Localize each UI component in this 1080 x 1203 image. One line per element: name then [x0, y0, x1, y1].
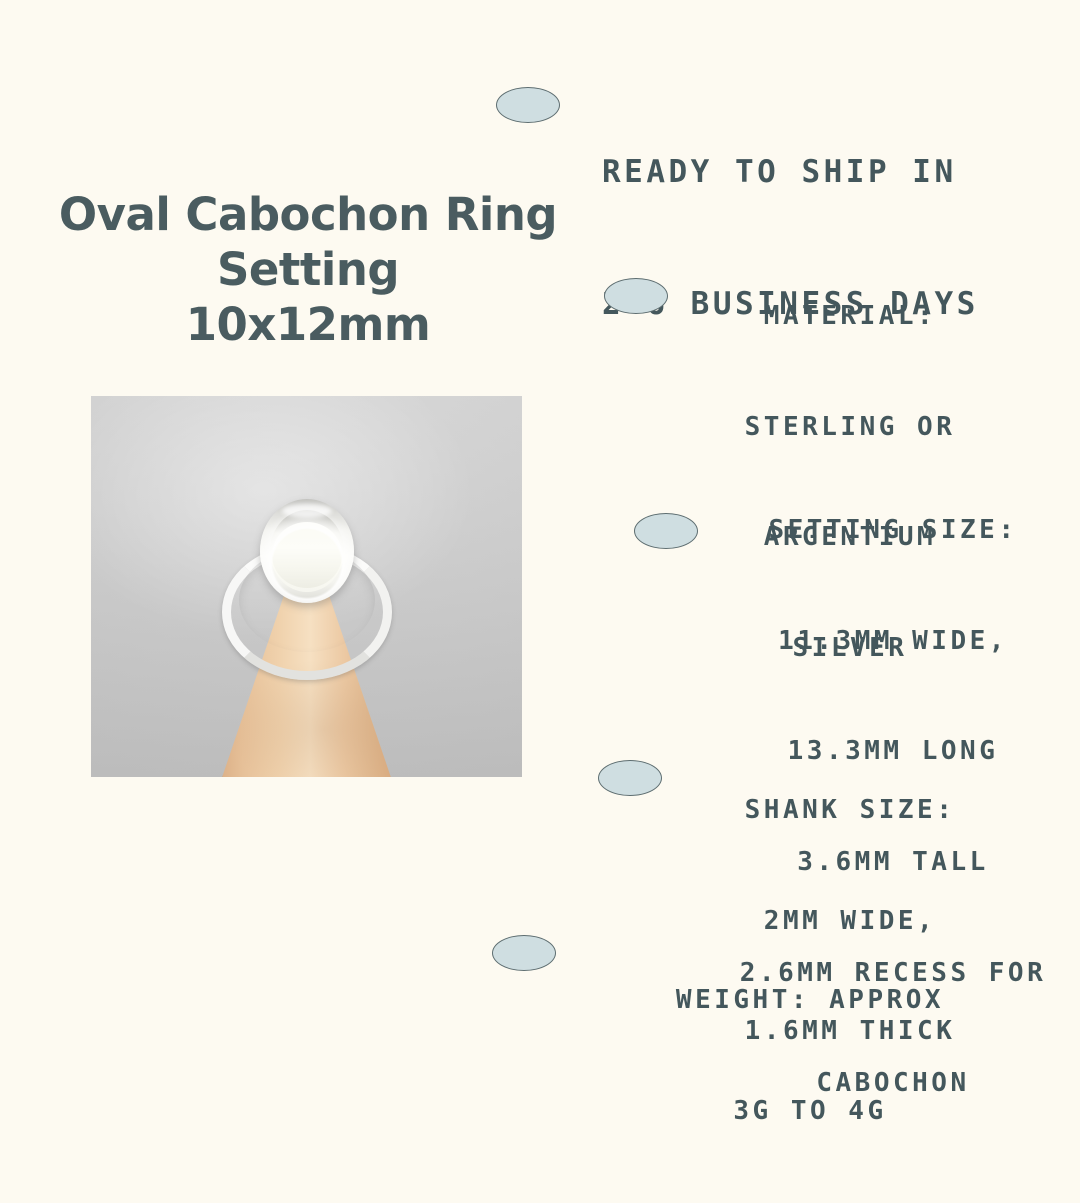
- weight-line-2: 3G TO 4G: [640, 1093, 980, 1130]
- oval-bullet-weight: [492, 935, 556, 971]
- bezel-highlight: [282, 504, 332, 518]
- weight-line-1: WEIGHT: APPROX: [640, 982, 980, 1019]
- title-line-3: 10x12mm: [18, 298, 598, 353]
- title-line-1: Oval Cabochon Ring: [18, 188, 598, 243]
- setting-line-2: 11.3MM WIDE,: [728, 623, 1058, 660]
- material-line-1: MATERIAL:: [700, 298, 1000, 335]
- oval-bullet-setting-size: [634, 513, 698, 549]
- oval-bullet-shank-size: [598, 760, 662, 796]
- shank-line-1: SHANK SIZE:: [700, 792, 1000, 829]
- shipping-line-1: READY TO SHIP IN: [602, 150, 979, 194]
- info-text-weight: WEIGHT: APPROX 3G TO 4G: [640, 908, 980, 1203]
- page-title: Oval Cabochon Ring Setting 10x12mm: [18, 188, 598, 353]
- title-line-2: Setting: [18, 243, 598, 298]
- oval-bullet-material: [604, 278, 668, 314]
- oval-bullet-shipping: [496, 87, 560, 123]
- setting-line-1: SETTING SIZE:: [728, 512, 1058, 549]
- infographic-canvas: Oval Cabochon Ring Setting 10x12mm READY…: [0, 0, 1080, 1080]
- product-photo: [91, 396, 522, 777]
